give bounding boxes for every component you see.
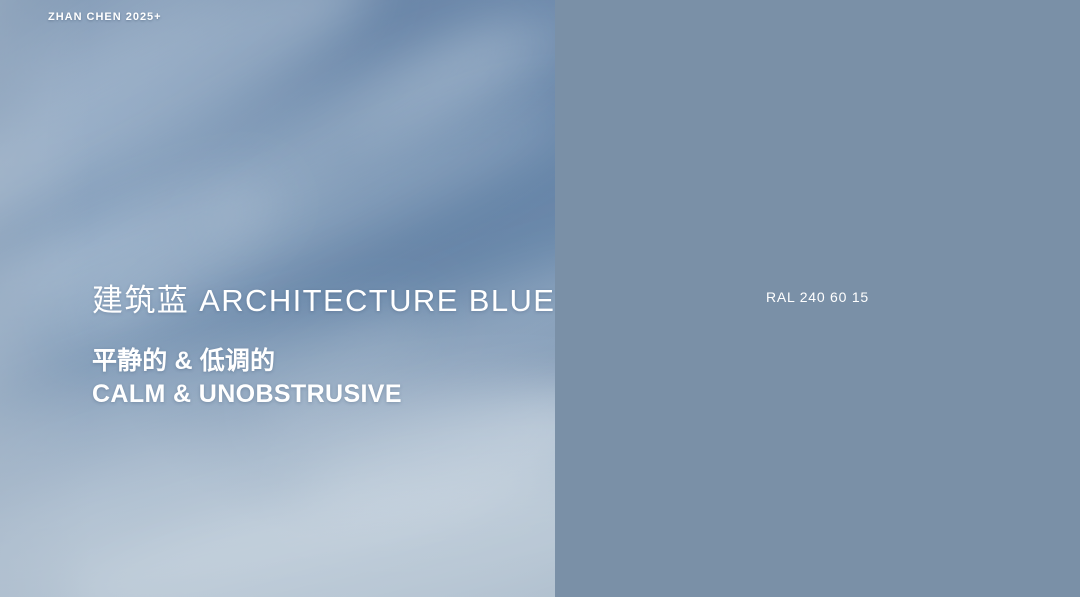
brand-logo-text: ZHAN CHEN 2025+: [48, 11, 162, 23]
sky-photo-panel: ZHAN CHEN 2025+ 建筑蓝 ARCHITECTURE BLUE 平静…: [0, 0, 555, 597]
page-title: 建筑蓝 ARCHITECTURE BLUE: [92, 283, 555, 319]
subtitle-group: 平静的 & 低调的 CALM & UNOBSTRUSIVE: [92, 345, 555, 411]
subtitle-chinese: 平静的 & 低调的: [92, 345, 555, 378]
headline-block: 建筑蓝 ARCHITECTURE BLUE 平静的 & 低调的 CALM & U…: [92, 283, 555, 411]
subtitle-english: CALM & UNOBSTRUSIVE: [92, 378, 555, 411]
color-swatch-panel: RAL 240 60 15: [555, 0, 1080, 597]
color-story-slide: ZHAN CHEN 2025+ 建筑蓝 ARCHITECTURE BLUE 平静…: [0, 0, 1080, 597]
ral-color-code-label: RAL 240 60 15: [555, 289, 1080, 305]
